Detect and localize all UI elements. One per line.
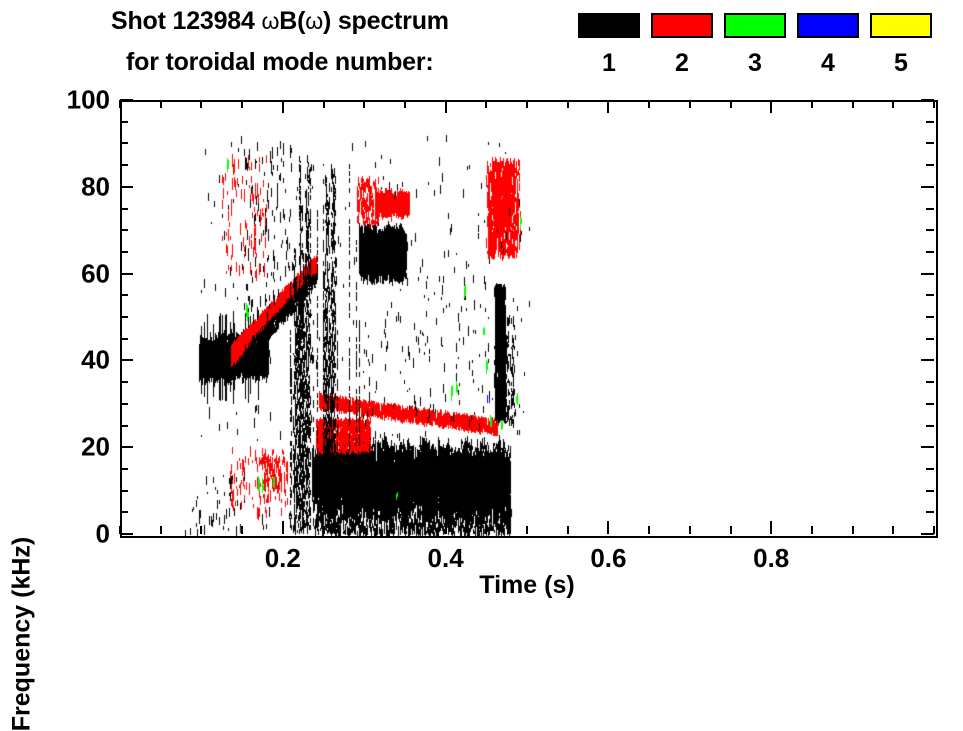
x-minor-tick	[485, 526, 487, 534]
y-minor-tick-right	[926, 490, 934, 492]
figure-title-line-1: Shot 123984 ωB(ω) spectrum	[111, 7, 449, 36]
x-major-tick-top	[770, 100, 772, 113]
x-minor-tick	[892, 526, 894, 534]
x-major-tick	[282, 521, 284, 534]
legend-item-1: 1	[578, 13, 640, 38]
x-tick-label-0.4: 0.4	[428, 543, 464, 574]
y-major-tick-right	[921, 533, 934, 535]
legend-swatch-5	[870, 13, 932, 38]
x-minor-tick-top	[811, 100, 813, 108]
y-minor-tick-right	[926, 468, 934, 470]
legend-item-5: 5	[870, 13, 932, 38]
legend-item-2: 2	[651, 13, 713, 38]
omega-symbol-1: ω	[261, 8, 279, 34]
x-minor-tick-top	[200, 100, 202, 108]
x-minor-tick	[241, 526, 243, 534]
x-minor-tick	[200, 526, 202, 534]
y-minor-tick-right	[926, 381, 934, 383]
spectrogram-figure: Shot 123984 ωB(ω) spectrum for toroidal …	[0, 0, 963, 615]
y-major-tick-right	[921, 186, 934, 188]
y-minor-tick	[120, 229, 128, 231]
x-minor-tick-top	[241, 100, 243, 108]
x-minor-tick	[404, 526, 406, 534]
x-minor-tick	[648, 526, 650, 534]
legend-swatch-3	[724, 13, 786, 38]
x-tick-label-0.8: 0.8	[753, 543, 789, 574]
y-minor-tick-right	[926, 425, 934, 427]
x-minor-tick-top	[689, 100, 691, 108]
plot-frame	[120, 100, 938, 538]
y-minor-tick	[120, 208, 128, 210]
legend-label-5: 5	[870, 51, 932, 76]
y-major-tick	[120, 186, 133, 188]
y-minor-tick	[120, 251, 128, 253]
x-minor-tick-top	[648, 100, 650, 108]
mode-number-legend: 12345	[578, 13, 948, 89]
omega-symbol-2: ω	[305, 8, 323, 34]
y-minor-tick	[120, 468, 128, 470]
y-tick-label-40: 40	[81, 345, 110, 376]
y-minor-tick-right	[926, 121, 934, 123]
legend-label-3: 3	[724, 51, 786, 76]
x-minor-tick-top	[567, 100, 569, 108]
y-tick-label-0: 0	[96, 519, 110, 550]
x-minor-tick	[363, 526, 365, 534]
y-major-tick-right	[921, 273, 934, 275]
x-minor-tick	[689, 526, 691, 534]
x-minor-tick-top	[892, 100, 894, 108]
x-minor-tick-top	[363, 100, 365, 108]
figure-title-line-2: for toroidal mode number:	[126, 48, 434, 77]
x-axis-title: Time (s)	[479, 571, 574, 600]
y-major-tick-right	[921, 99, 934, 101]
x-minor-tick	[526, 526, 528, 534]
y-minor-tick	[120, 338, 128, 340]
x-minor-tick-top	[933, 100, 935, 108]
x-minor-tick-top	[404, 100, 406, 108]
x-minor-tick-top	[160, 100, 162, 108]
y-minor-tick	[120, 490, 128, 492]
legend-label-2: 2	[651, 51, 713, 76]
x-tick-label-0.6: 0.6	[590, 543, 626, 574]
y-minor-tick-right	[926, 229, 934, 231]
spectrogram-canvas	[122, 102, 936, 536]
x-minor-tick	[323, 526, 325, 534]
legend-item-4: 4	[797, 13, 859, 38]
x-minor-tick	[160, 526, 162, 534]
y-minor-tick	[120, 403, 128, 405]
legend-swatch-4	[797, 13, 859, 38]
y-minor-tick	[120, 121, 128, 123]
y-tick-label-20: 20	[81, 432, 110, 463]
y-minor-tick-right	[926, 338, 934, 340]
y-minor-tick-right	[926, 511, 934, 513]
y-minor-tick	[120, 381, 128, 383]
title-b-text: B(	[279, 7, 305, 35]
y-minor-tick-right	[926, 251, 934, 253]
y-tick-label-60: 60	[81, 258, 110, 289]
legend-label-4: 4	[797, 51, 859, 76]
spectrogram-plot-area	[122, 102, 936, 536]
x-major-tick	[770, 521, 772, 534]
legend-swatch-1	[578, 13, 640, 38]
y-major-tick	[120, 533, 133, 535]
title-spectrum-text: ) spectrum	[323, 7, 449, 35]
y-minor-tick	[120, 142, 128, 144]
y-tick-label-80: 80	[81, 171, 110, 202]
title-shot-text: Shot 123984	[111, 7, 261, 35]
x-minor-tick	[567, 526, 569, 534]
x-minor-tick-top	[526, 100, 528, 108]
y-major-tick-right	[921, 359, 934, 361]
y-minor-tick-right	[926, 142, 934, 144]
y-major-tick-right	[921, 446, 934, 448]
y-major-tick	[120, 446, 133, 448]
x-minor-tick-top	[852, 100, 854, 108]
x-minor-tick	[730, 526, 732, 534]
y-major-tick	[120, 99, 133, 101]
legend-swatch-2	[651, 13, 713, 38]
x-minor-tick	[811, 526, 813, 534]
y-minor-tick	[120, 425, 128, 427]
x-minor-tick-top	[323, 100, 325, 108]
y-minor-tick-right	[926, 164, 934, 166]
legend-item-3: 3	[724, 13, 786, 38]
x-minor-tick-top	[730, 100, 732, 108]
x-minor-tick-top	[119, 100, 121, 108]
legend-label-1: 1	[578, 51, 640, 76]
y-minor-tick	[120, 294, 128, 296]
y-minor-tick-right	[926, 403, 934, 405]
y-minor-tick	[120, 511, 128, 513]
x-major-tick-top	[607, 100, 609, 113]
y-minor-tick-right	[926, 316, 934, 318]
x-major-tick	[445, 521, 447, 534]
x-tick-label-0.2: 0.2	[265, 543, 301, 574]
x-minor-tick	[852, 526, 854, 534]
y-axis-title: Frequency (kHz)	[8, 537, 37, 731]
x-minor-tick-top	[485, 100, 487, 108]
y-tick-label-100: 100	[67, 85, 110, 116]
y-minor-tick	[120, 316, 128, 318]
y-minor-tick	[120, 164, 128, 166]
y-major-tick	[120, 359, 133, 361]
y-minor-tick-right	[926, 294, 934, 296]
y-minor-tick-right	[926, 208, 934, 210]
y-major-tick	[120, 273, 133, 275]
x-major-tick	[607, 521, 609, 534]
x-major-tick-top	[445, 100, 447, 113]
x-major-tick-top	[282, 100, 284, 113]
